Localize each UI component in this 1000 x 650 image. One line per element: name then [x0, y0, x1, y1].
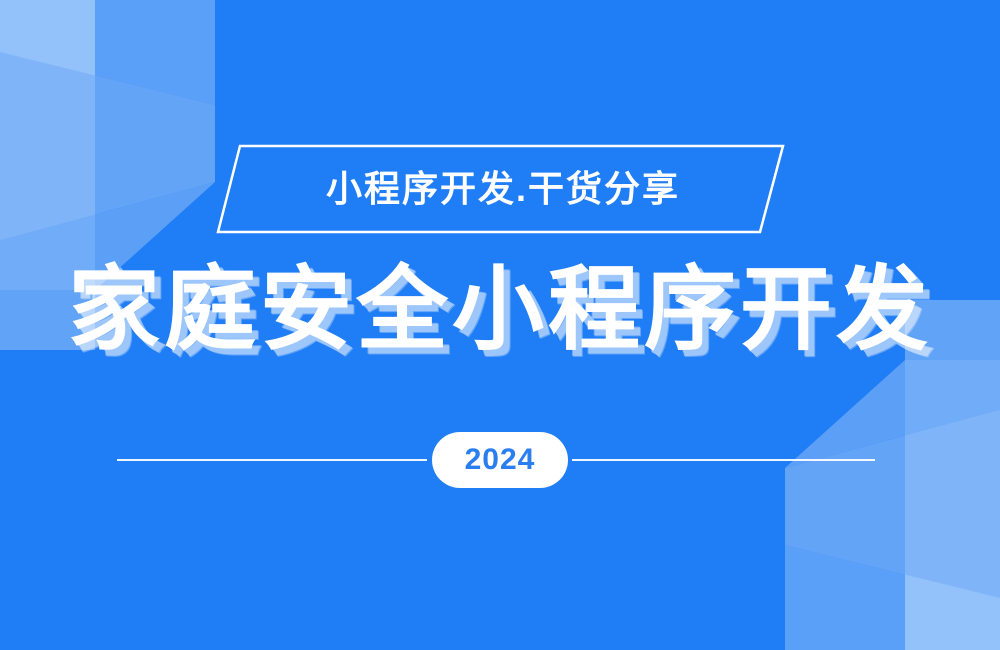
banner-root: 小程序开发.干货分享 家庭安全小程序开发 2024	[0, 0, 1000, 650]
divider-line-right	[572, 459, 875, 461]
subtitle-text: 小程序开发.干货分享	[0, 143, 1000, 235]
page-title: 家庭安全小程序开发	[0, 262, 1000, 359]
subtitle-block: 小程序开发.干货分享	[0, 143, 1000, 235]
divider-line-left	[117, 459, 427, 461]
left-wedge-upper	[0, 0, 215, 105]
right-band-tint	[785, 360, 905, 650]
year-divider-row: 2024	[0, 432, 1000, 488]
year-badge: 2024	[432, 432, 568, 488]
right-wedge-lower	[785, 545, 1000, 650]
